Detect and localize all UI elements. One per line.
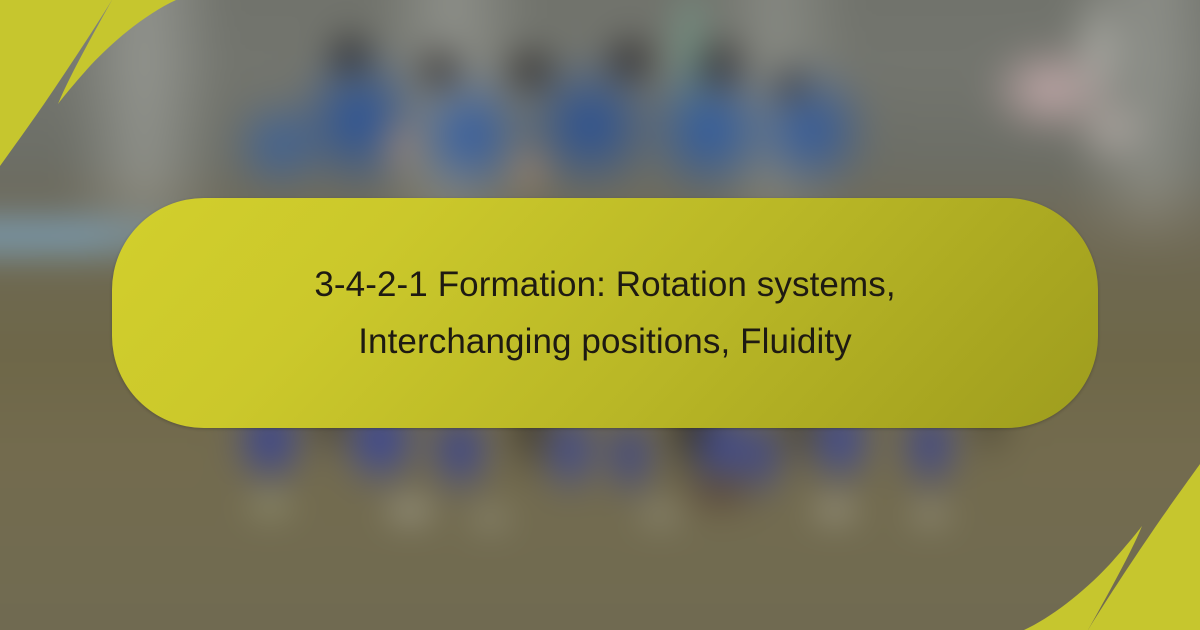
social-card-canvas: 3-4-2-1 Formation: Rotation systems, Int… <box>0 0 1200 630</box>
title-card: 3-4-2-1 Formation: Rotation systems, Int… <box>112 198 1098 428</box>
title-text: 3-4-2-1 Formation: Rotation systems, Int… <box>265 256 945 370</box>
